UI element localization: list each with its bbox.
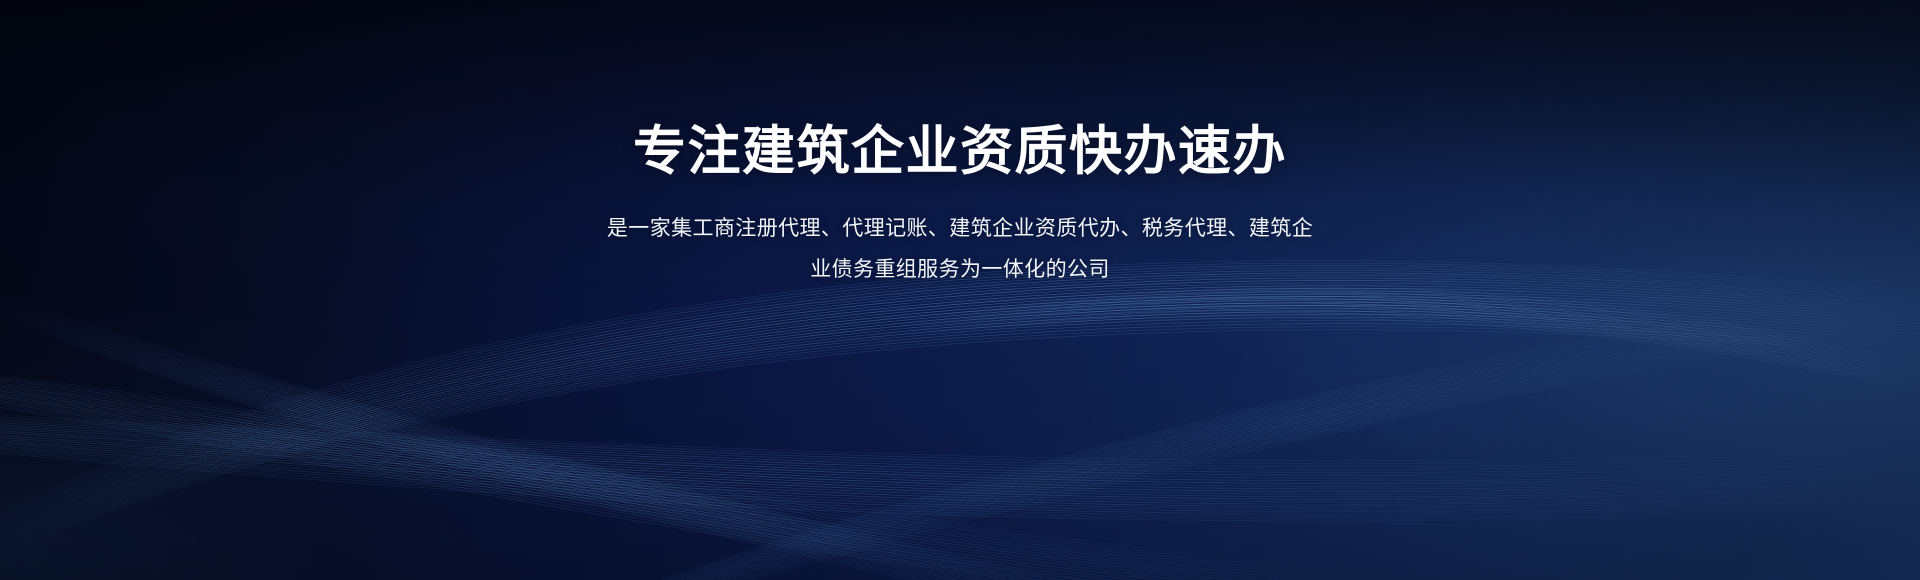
banner-subtitle: 是一家集工商注册代理、代理记账、建筑企业资质代办、税务代理、建筑企业债务重组服务… (604, 209, 1316, 291)
banner-headline: 专注建筑企业资质快办速办 (633, 122, 1287, 181)
banner-content: 专注建筑企业资质快办速办 是一家集工商注册代理、代理记账、建筑企业资质代办、税务… (0, 0, 1920, 580)
hero-banner: 专注建筑企业资质快办速办 是一家集工商注册代理、代理记账、建筑企业资质代办、税务… (0, 0, 1920, 580)
